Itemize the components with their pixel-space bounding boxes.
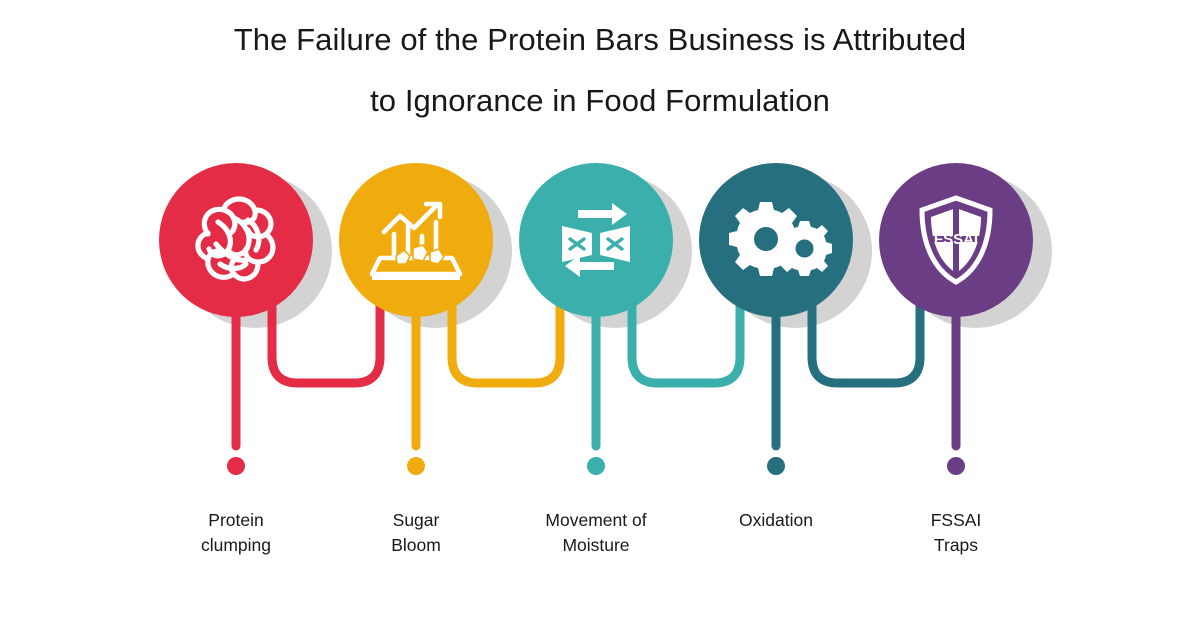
node-label-sugar-bloom: Sugar Bloom <box>321 508 511 558</box>
node-label-oxidation: Oxidation <box>681 508 871 533</box>
node-label-movement-of-moisture: Movement of Moisture <box>501 508 691 558</box>
timeline-dot[interactable] <box>587 457 605 475</box>
node-circle-movement-of-moisture[interactable] <box>519 163 673 317</box>
timeline-dot[interactable] <box>767 457 785 475</box>
node-label-fssai-traps: FSSAI Traps <box>861 508 1051 558</box>
node-circle-protein-clumping[interactable] <box>159 163 313 317</box>
infographic-root: The Failure of the Protein Bars Business… <box>0 0 1200 628</box>
node-circle-sugar-bloom[interactable] <box>339 163 493 317</box>
label-row: Protein clumpingSugar BloomMovement of M… <box>0 508 1200 588</box>
node-label-protein-clumping: Protein clumping <box>141 508 331 558</box>
timeline-dot[interactable] <box>227 457 245 475</box>
timeline-dot[interactable] <box>407 457 425 475</box>
circle-layer <box>159 163 1033 317</box>
timeline-dot[interactable] <box>947 457 965 475</box>
